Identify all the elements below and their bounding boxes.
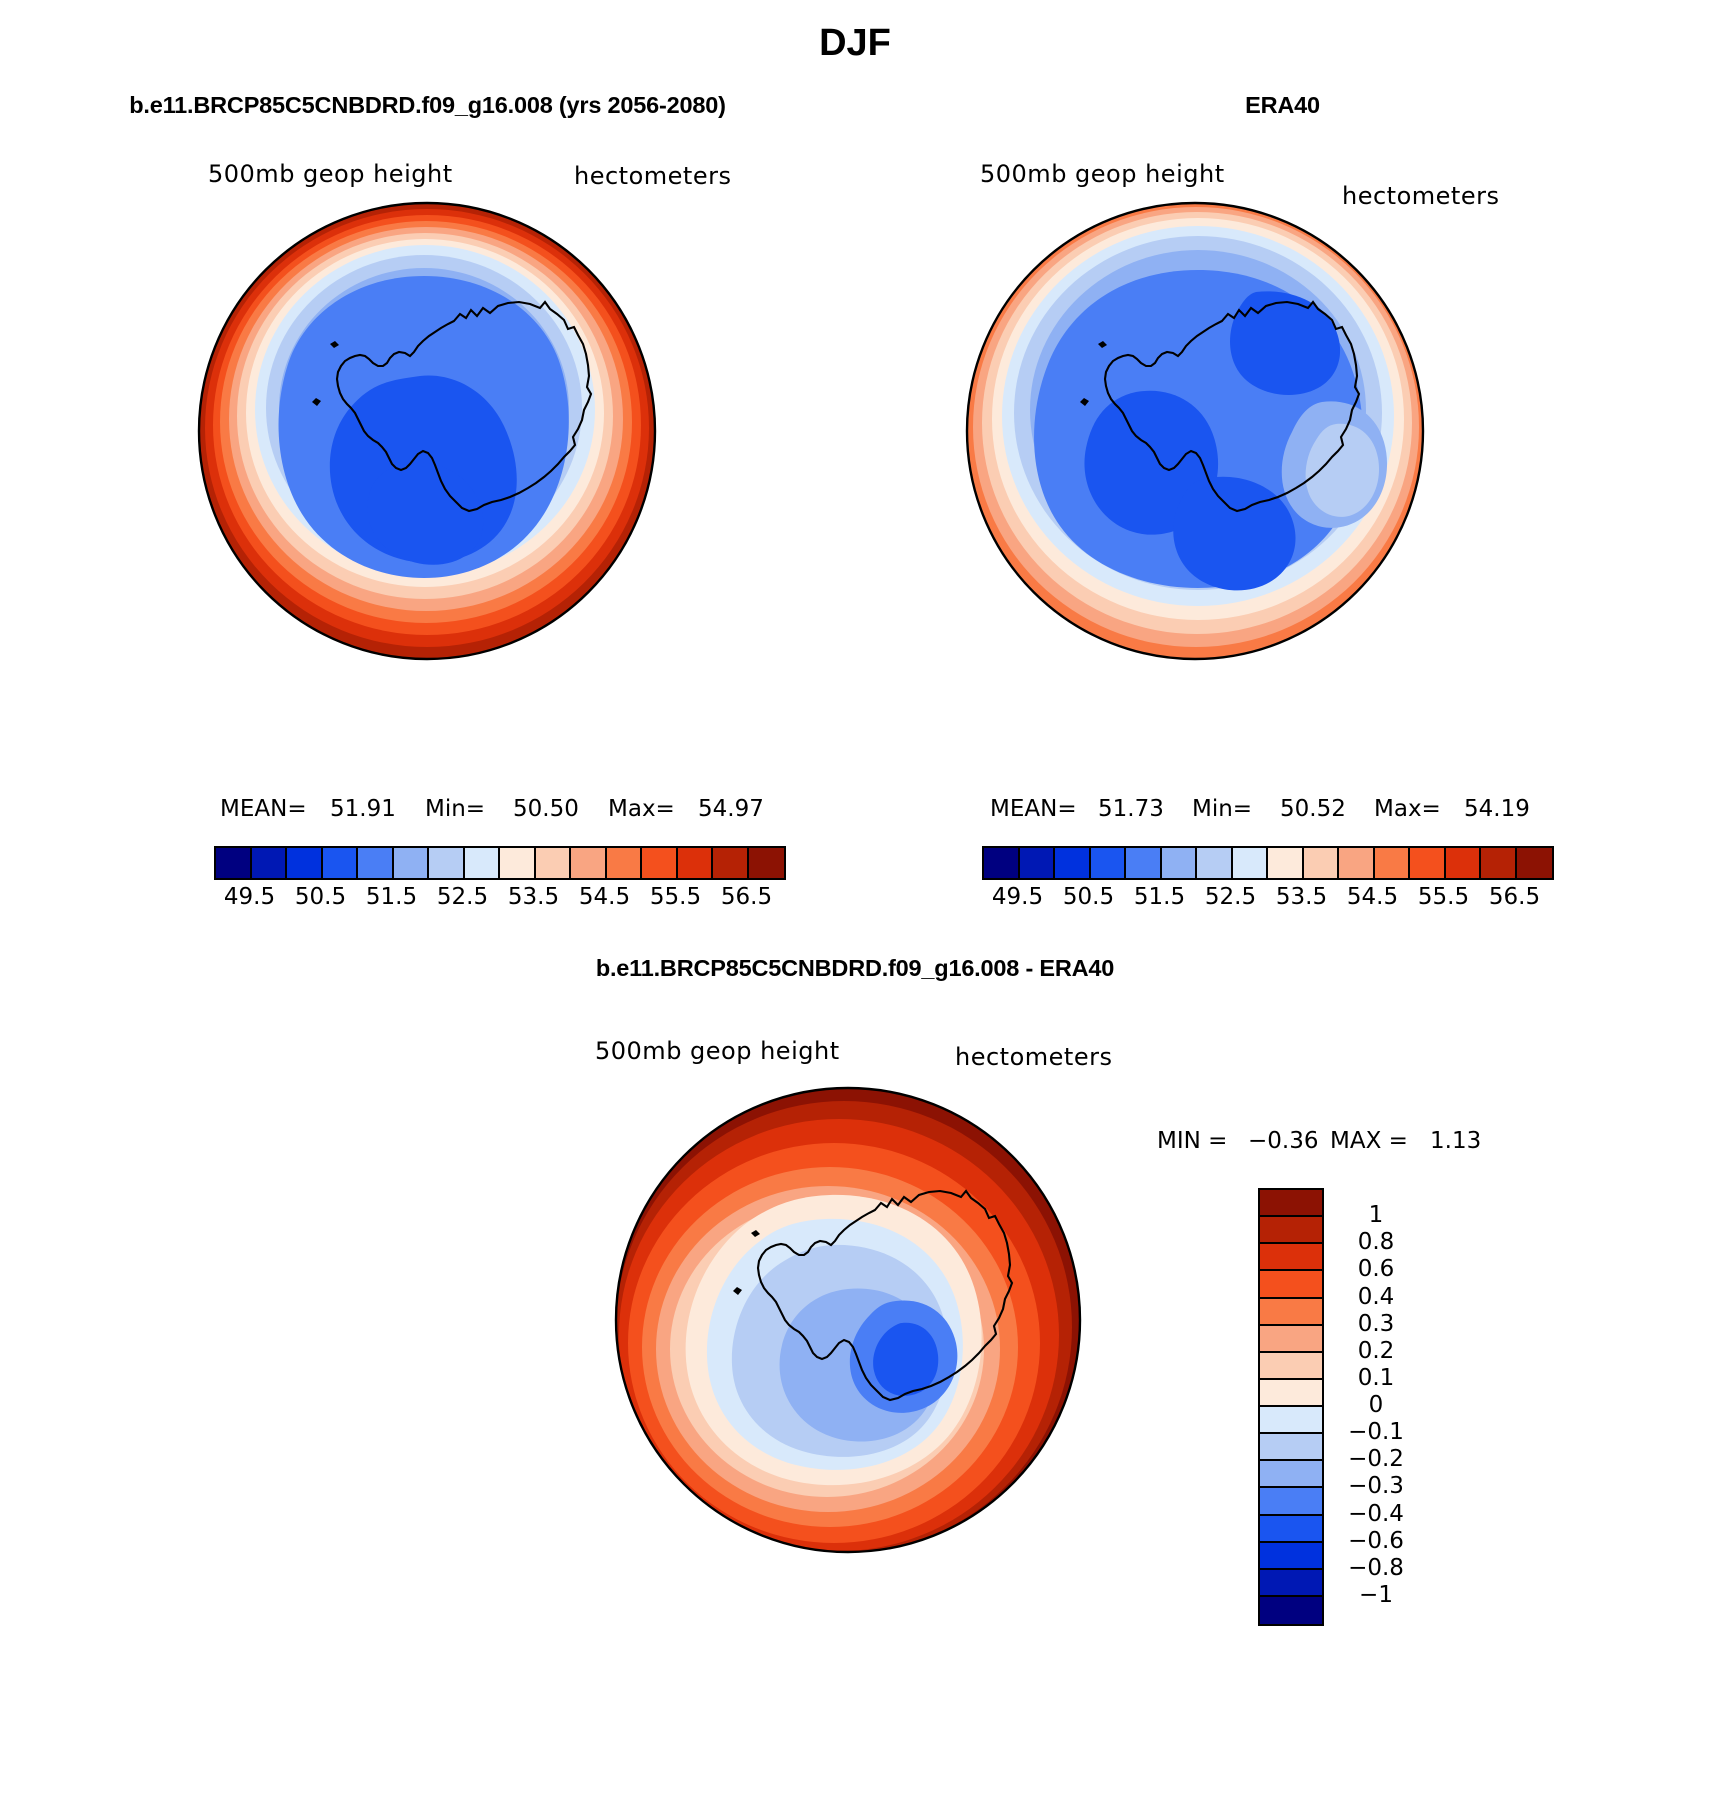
obs-stats-max-label: Max= bbox=[1374, 796, 1441, 822]
map-diff-contours bbox=[616, 1088, 1080, 1553]
colorbar-swatch[interactable] bbox=[358, 848, 394, 878]
obs-stats-min-value: 50.52 bbox=[1280, 796, 1346, 822]
model-variable-label: 500mb geop height bbox=[208, 160, 453, 188]
colorbar-swatch[interactable] bbox=[1517, 848, 1553, 878]
map-obs bbox=[960, 196, 1430, 666]
obs-stats-mean-value: 51.73 bbox=[1098, 796, 1164, 822]
figure-season-title: DJF bbox=[0, 22, 1710, 65]
colorbar-swatch[interactable] bbox=[713, 848, 749, 878]
colorbar-tick-label: 0.1 bbox=[1358, 1365, 1395, 1391]
map-model bbox=[192, 196, 662, 666]
obs-stats-min-label: Min= bbox=[1192, 796, 1252, 822]
map-diff bbox=[580, 1085, 1140, 1555]
colorbar-swatch[interactable] bbox=[465, 848, 501, 878]
panel-title-obs: ERA40 bbox=[855, 92, 1710, 119]
colorbar-swatch[interactable] bbox=[1268, 848, 1304, 878]
colorbar-swatch[interactable] bbox=[984, 848, 1020, 878]
colorbar-tick-label: 0.3 bbox=[1358, 1311, 1395, 1337]
colorbar-swatch[interactable] bbox=[394, 848, 430, 878]
model-stats-mean-value: 51.91 bbox=[330, 796, 396, 822]
colorbar-tick-label: −0.8 bbox=[1348, 1555, 1404, 1581]
colorbar-swatch[interactable] bbox=[1091, 848, 1127, 878]
colorbar-tick-label: 55.5 bbox=[1418, 884, 1469, 910]
map-diff-svg bbox=[580, 1085, 1140, 1555]
colorbar-tick-label: 49.5 bbox=[992, 884, 1043, 910]
colorbar-swatch[interactable] bbox=[500, 848, 536, 878]
colorbar-swatch[interactable] bbox=[1375, 848, 1411, 878]
colorbar-swatch[interactable] bbox=[749, 848, 785, 878]
diff-units-label: hectometers bbox=[955, 1043, 1112, 1071]
colorbar-tick-label: −1 bbox=[1359, 1582, 1393, 1608]
colorbar-swatch[interactable] bbox=[1339, 848, 1375, 878]
colorbar-tick-label: 0.2 bbox=[1358, 1338, 1395, 1364]
colorbar-model-ticklabels: 49.550.551.552.553.554.555.556.5 bbox=[214, 884, 782, 912]
colorbar-tick-label: 1 bbox=[1369, 1202, 1384, 1228]
diff-max-value: 1.13 bbox=[1430, 1128, 1481, 1154]
colorbar-tick-label: 52.5 bbox=[1205, 884, 1256, 910]
colorbar-swatch[interactable] bbox=[1410, 848, 1446, 878]
colorbar-swatch[interactable] bbox=[1055, 848, 1091, 878]
colorbar-swatch[interactable] bbox=[1197, 848, 1233, 878]
colorbar-swatch[interactable] bbox=[607, 848, 643, 878]
model-stats-mean-label: MEAN= bbox=[220, 796, 307, 822]
colorbar-swatch[interactable] bbox=[1126, 848, 1162, 878]
colorbar-tick-label: 50.5 bbox=[1063, 884, 1114, 910]
colorbar-swatch[interactable] bbox=[536, 848, 572, 878]
colorbar-tick-label: −0.3 bbox=[1348, 1473, 1404, 1499]
map-model-contours bbox=[199, 203, 655, 659]
colorbar-tick-label: 53.5 bbox=[508, 884, 559, 910]
obs-stats-mean-label: MEAN= bbox=[990, 796, 1077, 822]
diff-max-label: MAX = bbox=[1330, 1128, 1408, 1154]
diff-min-value: −0.36 bbox=[1248, 1128, 1318, 1154]
colorbar-swatch[interactable] bbox=[642, 848, 678, 878]
colorbar-tick-label: 51.5 bbox=[1134, 884, 1185, 910]
colorbar-swatch[interactable] bbox=[1020, 848, 1056, 878]
colorbar-tick-label: 55.5 bbox=[650, 884, 701, 910]
model-stats-min-label: Min= bbox=[425, 796, 485, 822]
colorbar-tick-label: 52.5 bbox=[437, 884, 488, 910]
colorbar-tick-label: 0.4 bbox=[1358, 1284, 1395, 1310]
colorbar-swatch[interactable] bbox=[1162, 848, 1198, 878]
colorbar-tick-label: 56.5 bbox=[721, 884, 772, 910]
colorbar-swatch[interactable] bbox=[287, 848, 323, 878]
map-model-svg bbox=[192, 196, 662, 666]
colorbar-tick-label: 54.5 bbox=[1347, 884, 1398, 910]
diff-variable-label: 500mb geop height bbox=[595, 1037, 840, 1065]
colorbar-tick-label: 56.5 bbox=[1489, 884, 1540, 910]
colorbar-swatch[interactable] bbox=[252, 848, 288, 878]
obs-stats-max-value: 54.19 bbox=[1464, 796, 1530, 822]
colorbar-swatch[interactable] bbox=[1446, 848, 1482, 878]
colorbar-swatch[interactable] bbox=[571, 848, 607, 878]
panel-title-model: b.e11.BRCP85C5CNBDRD.f09_g16.008 (yrs 20… bbox=[0, 92, 855, 119]
colorbar-model[interactable] bbox=[214, 846, 786, 880]
colorbar-obs[interactable] bbox=[982, 846, 1554, 880]
model-units-label: hectometers bbox=[574, 162, 731, 190]
colorbar-tick-label: −0.4 bbox=[1348, 1501, 1404, 1527]
colorbar-swatch[interactable] bbox=[429, 848, 465, 878]
colorbar-tick-label: −0.1 bbox=[1348, 1419, 1404, 1445]
colorbar-swatch[interactable] bbox=[216, 848, 252, 878]
colorbar-tick-label: 0.6 bbox=[1358, 1256, 1395, 1282]
model-stats-min-value: 50.50 bbox=[513, 796, 579, 822]
colorbar-tick-label: 53.5 bbox=[1276, 884, 1327, 910]
colorbar-swatch[interactable] bbox=[323, 848, 359, 878]
map-obs-contours bbox=[967, 203, 1423, 659]
colorbar-tick-label: 0 bbox=[1369, 1392, 1384, 1418]
colorbar-swatch[interactable] bbox=[678, 848, 714, 878]
obs-variable-label: 500mb geop height bbox=[980, 160, 1225, 188]
model-stats-max-value: 54.97 bbox=[698, 796, 764, 822]
colorbar-tick-label: 49.5 bbox=[224, 884, 275, 910]
colorbar-tick-label: −0.2 bbox=[1348, 1446, 1404, 1472]
colorbar-tick-label: −0.6 bbox=[1348, 1528, 1404, 1554]
colorbar-swatch[interactable] bbox=[1304, 848, 1340, 878]
colorbar-diff-ticklabels: 10.80.60.40.30.20.10−0.1−0.2−0.3−0.4−0.6… bbox=[1258, 1188, 1438, 1622]
colorbar-tick-label: 0.8 bbox=[1358, 1229, 1395, 1255]
colorbar-tick-label: 51.5 bbox=[366, 884, 417, 910]
diff-min-label: MIN = bbox=[1157, 1128, 1227, 1154]
colorbar-obs-ticklabels: 49.550.551.552.553.554.555.556.5 bbox=[982, 884, 1550, 912]
model-stats-max-label: Max= bbox=[608, 796, 675, 822]
colorbar-tick-label: 54.5 bbox=[579, 884, 630, 910]
colorbar-tick-label: 50.5 bbox=[295, 884, 346, 910]
colorbar-swatch[interactable] bbox=[1481, 848, 1517, 878]
panel-title-diff: b.e11.BRCP85C5CNBDRD.f09_g16.008 - ERA40 bbox=[0, 955, 1710, 982]
map-obs-svg bbox=[960, 196, 1430, 666]
colorbar-swatch[interactable] bbox=[1233, 848, 1269, 878]
